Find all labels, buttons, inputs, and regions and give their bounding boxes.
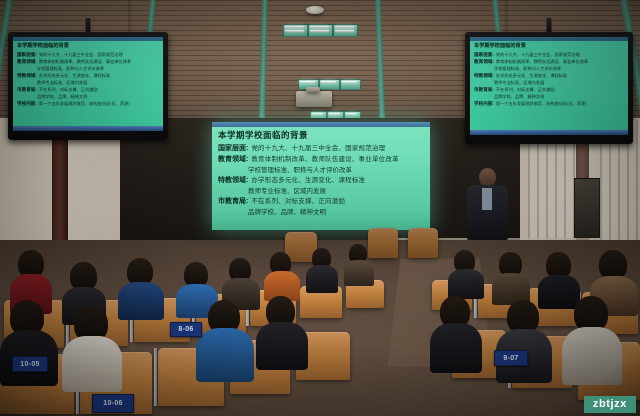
- audience-body: [256, 322, 308, 370]
- audience-member: [448, 250, 482, 294]
- seat-tag: 9-07: [494, 350, 528, 366]
- right-mon-cont: 学校管理标准、职称与人才评价改革: [474, 65, 625, 72]
- left-mon-key: 国家层面:: [17, 51, 37, 58]
- left-monitor-taskbar: [13, 126, 163, 131]
- audience-body: [62, 336, 122, 392]
- seat-frame: [154, 348, 157, 406]
- slide-row: 国家层面: 党的十九大、十九届三中全会、国家规范治理: [218, 144, 426, 154]
- right-mon-val: 教育体制机制改革、教师队伍建设、事业单位改革: [496, 58, 588, 65]
- auditorium-photo: 本学期学校面临的背景 国家层面: 党的十九大、十九届三中全会、国家规范治理 教育…: [0, 0, 640, 416]
- watermark: zbtjzx: [584, 396, 636, 413]
- right-monitor-titlebar: [470, 37, 628, 41]
- left-mon-val: 党的十九大、十九届三中全会、国家规范治理: [39, 51, 123, 58]
- left-mon-val: 教育体制机制改革、教师队伍建设、事业单位改革: [39, 58, 131, 65]
- ceiling-light-bank-far: [283, 22, 357, 38]
- slide-row-value: 办学形态多元化、生源变化、课程标准: [251, 176, 365, 186]
- audience-member: [118, 258, 162, 316]
- screen-window-titlebar: [212, 122, 430, 127]
- audience-body: [430, 323, 482, 373]
- smoke-detector-icon: [306, 6, 324, 14]
- audience-member: [306, 248, 336, 288]
- right-mon-key: 教育领域:: [474, 58, 494, 65]
- audience-body: [448, 269, 484, 299]
- slide-row-cont: 教师专业标准、区域内发展: [218, 187, 426, 197]
- slide-row-key: 市教育局:: [218, 197, 248, 207]
- slide-row-cont: 学校管理标准、职称与人才评价改革: [218, 166, 426, 176]
- slide-content: 本学期学校面临的背景 国家层面: 党的十九大、十九届三中全会、国家规范治理 教育…: [218, 130, 426, 218]
- wall-speaker: [574, 178, 600, 238]
- ceiling-beam-center-left: [259, 0, 268, 126]
- slide-row-value: 党的十九大、十九届三中全会、国家规范治理: [251, 144, 385, 154]
- slide-row-value: 教育体制机制改革、教师队伍建设、事业单位改革: [251, 155, 398, 165]
- left-mon-key: 特教领域:: [17, 72, 37, 79]
- right-mon-val: 办学形态多元化、生源变化、课程标准: [496, 72, 567, 79]
- audience-body: [306, 265, 338, 293]
- left-mon-val: 第一个五年发展规划收官、结构变化(队伍、资源): [39, 100, 130, 107]
- audience-member: [196, 300, 252, 378]
- left-monitor: 本学期学校面临的背景 国家层面:党的十九大、十九届三中全会、国家规范治理 教育领…: [8, 32, 168, 140]
- slide-row-key: 教育领域:: [218, 155, 248, 165]
- left-monitor-titlebar: [13, 37, 163, 41]
- left-mon-val: 办学形态多元化、生源变化、课程标准: [39, 72, 110, 79]
- slide-title: 本学期学校面临的背景: [218, 130, 426, 141]
- audience-member: [256, 296, 306, 366]
- audience-member: [222, 258, 258, 306]
- left-mon-cont: 品牌学校、品牌、精神文明: [17, 93, 160, 100]
- right-mon-key: 国家层面:: [474, 51, 494, 58]
- presenter-shirt: [482, 188, 492, 210]
- right-mon-val: 党的十九大、十九届三中全会、国家规范治理: [496, 51, 580, 58]
- audience-member: [562, 296, 620, 380]
- right-monitor-panel: 本学期学校面临的背景 国家层面:党的十九大、十九届三中全会、国家规范治理 教育领…: [470, 37, 628, 135]
- projection-screen: 本学期学校面临的背景 国家层面: 党的十九大、十九届三中全会、国家规范治理 教育…: [212, 122, 430, 230]
- right-monitor: 本学期学校面临的背景 国家层面:党的十九大、十九届三中全会、国家规范治理 教育领…: [465, 32, 633, 144]
- seat-tag: 8-06: [170, 322, 202, 337]
- left-monitor-slide-title: 本学期学校面临的背景: [17, 43, 160, 50]
- left-monitor-panel: 本学期学校面临的背景 国家层面:党的十九大、十九届三中全会、国家规范治理 教育领…: [13, 37, 163, 131]
- seat-tag: 10-06: [92, 394, 134, 413]
- right-mon-val: 不在系列、对标支撑、正向激励: [496, 86, 555, 93]
- right-monitor-taskbar: [470, 130, 628, 135]
- audience-member: [496, 300, 550, 378]
- slide-row: 教育领域: 教育体制机制改革、教师队伍建设、事业单位改革: [218, 155, 426, 165]
- right-mon-key: 学校内部:: [474, 100, 494, 107]
- right-mon-key: 特教领域:: [474, 72, 494, 79]
- audience-body: [344, 260, 374, 286]
- ceiling-beam-center-right: [375, 0, 385, 126]
- audience-member: [492, 252, 528, 300]
- right-mon-key: 市教育局:: [474, 86, 494, 93]
- left-mon-cont: 学校管理标准、职称与人才评价改革: [17, 65, 160, 72]
- seat-tag: 10-05: [12, 356, 48, 372]
- left-mon-key: 学校内部:: [17, 100, 37, 107]
- slide-row: 特教领域: 办学形态多元化、生源变化、课程标准: [218, 176, 426, 186]
- right-mon-cont: 品牌学校、品牌、精神文明: [474, 93, 625, 100]
- right-monitor-slide-title: 本学期学校面临的背景: [474, 43, 625, 50]
- left-mon-val: 不在系列、对标支撑、正向激励: [39, 86, 98, 93]
- audience-body: [196, 328, 254, 382]
- audience-member: [62, 306, 120, 386]
- front-chair: [368, 228, 398, 258]
- right-mon-cont: 教师专业标准、区域内发展: [474, 79, 625, 86]
- left-mon-cont: 教师专业标准、区域内发展: [17, 79, 160, 86]
- right-mon-val: 第一个五年发展规划收官、结构变化(队伍、资源): [496, 100, 587, 107]
- audience-body: [562, 327, 622, 385]
- slide-row-key: 国家层面:: [218, 144, 248, 154]
- slide-row: 市教育局: 不在系列、对标支撑、正向激励: [218, 197, 426, 207]
- slide-row-key: 特教领域:: [218, 176, 248, 186]
- audience-body: [118, 282, 164, 320]
- slide-row-cont: 品牌学校、品牌、精神文明: [218, 208, 426, 218]
- audience-member: [430, 296, 480, 368]
- left-mon-key: 市教育局:: [17, 86, 37, 93]
- front-chair: [408, 228, 438, 258]
- left-mon-key: 教育领域:: [17, 58, 37, 65]
- projector-mount: [306, 87, 320, 92]
- presenter: [465, 168, 509, 240]
- ceiling-projector: [296, 91, 332, 107]
- audience-member: [264, 252, 298, 296]
- slide-row-value: 不在系列、对标支撑、正向激励: [251, 197, 345, 207]
- audience-member: [344, 244, 372, 280]
